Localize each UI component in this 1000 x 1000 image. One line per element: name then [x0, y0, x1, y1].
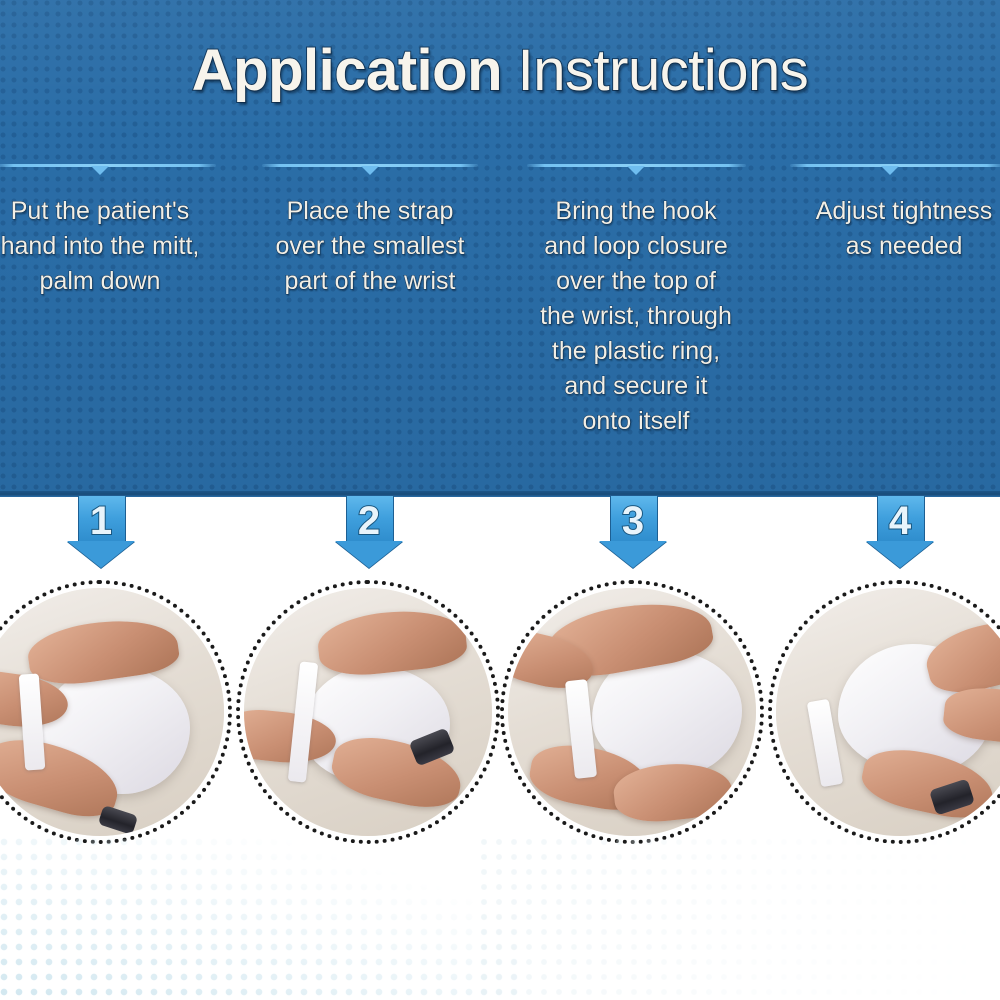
- step-photo-2: [244, 588, 492, 836]
- panel-bottom-edge: [0, 491, 1000, 497]
- step-photo-3: [508, 588, 756, 836]
- step-photo-4: [776, 588, 1000, 836]
- arrow-head-icon-1: [67, 541, 135, 568]
- step-3-text: Bring the hook and loop closure over the…: [498, 194, 774, 439]
- arrow-head-icon-2: [335, 541, 403, 568]
- chevron-down-icon-step-2: [361, 166, 379, 175]
- step-arrow-3: 3: [599, 496, 667, 568]
- page-title: Application Instructions: [0, 40, 1000, 102]
- step-1-text: Put the patient's hand into the mitt, pa…: [0, 194, 238, 299]
- step-number-3: 3: [599, 498, 667, 544]
- photo-dotted-ring-2: [236, 580, 500, 844]
- step-arrow-2: 2: [335, 496, 403, 568]
- step-arrow-1: 1: [67, 496, 135, 568]
- step-4-text: Adjust tightness as needed: [766, 194, 1000, 264]
- arrow-head-icon-3: [599, 541, 667, 568]
- title-word-application: Application: [192, 38, 502, 103]
- step-number-2: 2: [335, 498, 403, 544]
- chevron-down-icon-step-1: [91, 166, 109, 175]
- step-number-4: 4: [866, 498, 934, 544]
- application-instructions-infographic: Application Instructions Put the patient…: [0, 0, 1000, 1000]
- step-2-text: Place the strap over the smallest part o…: [232, 194, 508, 299]
- arrow-head-icon-4: [866, 541, 934, 568]
- step-photo-1: [0, 588, 224, 836]
- bottom-left-dot-pattern: [0, 838, 520, 1000]
- title-word-instructions: Instructions: [518, 38, 809, 103]
- photo-dotted-ring-3: [500, 580, 764, 844]
- step-number-1: 1: [67, 498, 135, 544]
- chevron-down-icon-step-3: [627, 166, 645, 175]
- chevron-down-icon-step-4: [881, 166, 899, 175]
- bottom-right-dot-pattern: [480, 838, 1000, 1000]
- step-arrow-4: 4: [866, 496, 934, 568]
